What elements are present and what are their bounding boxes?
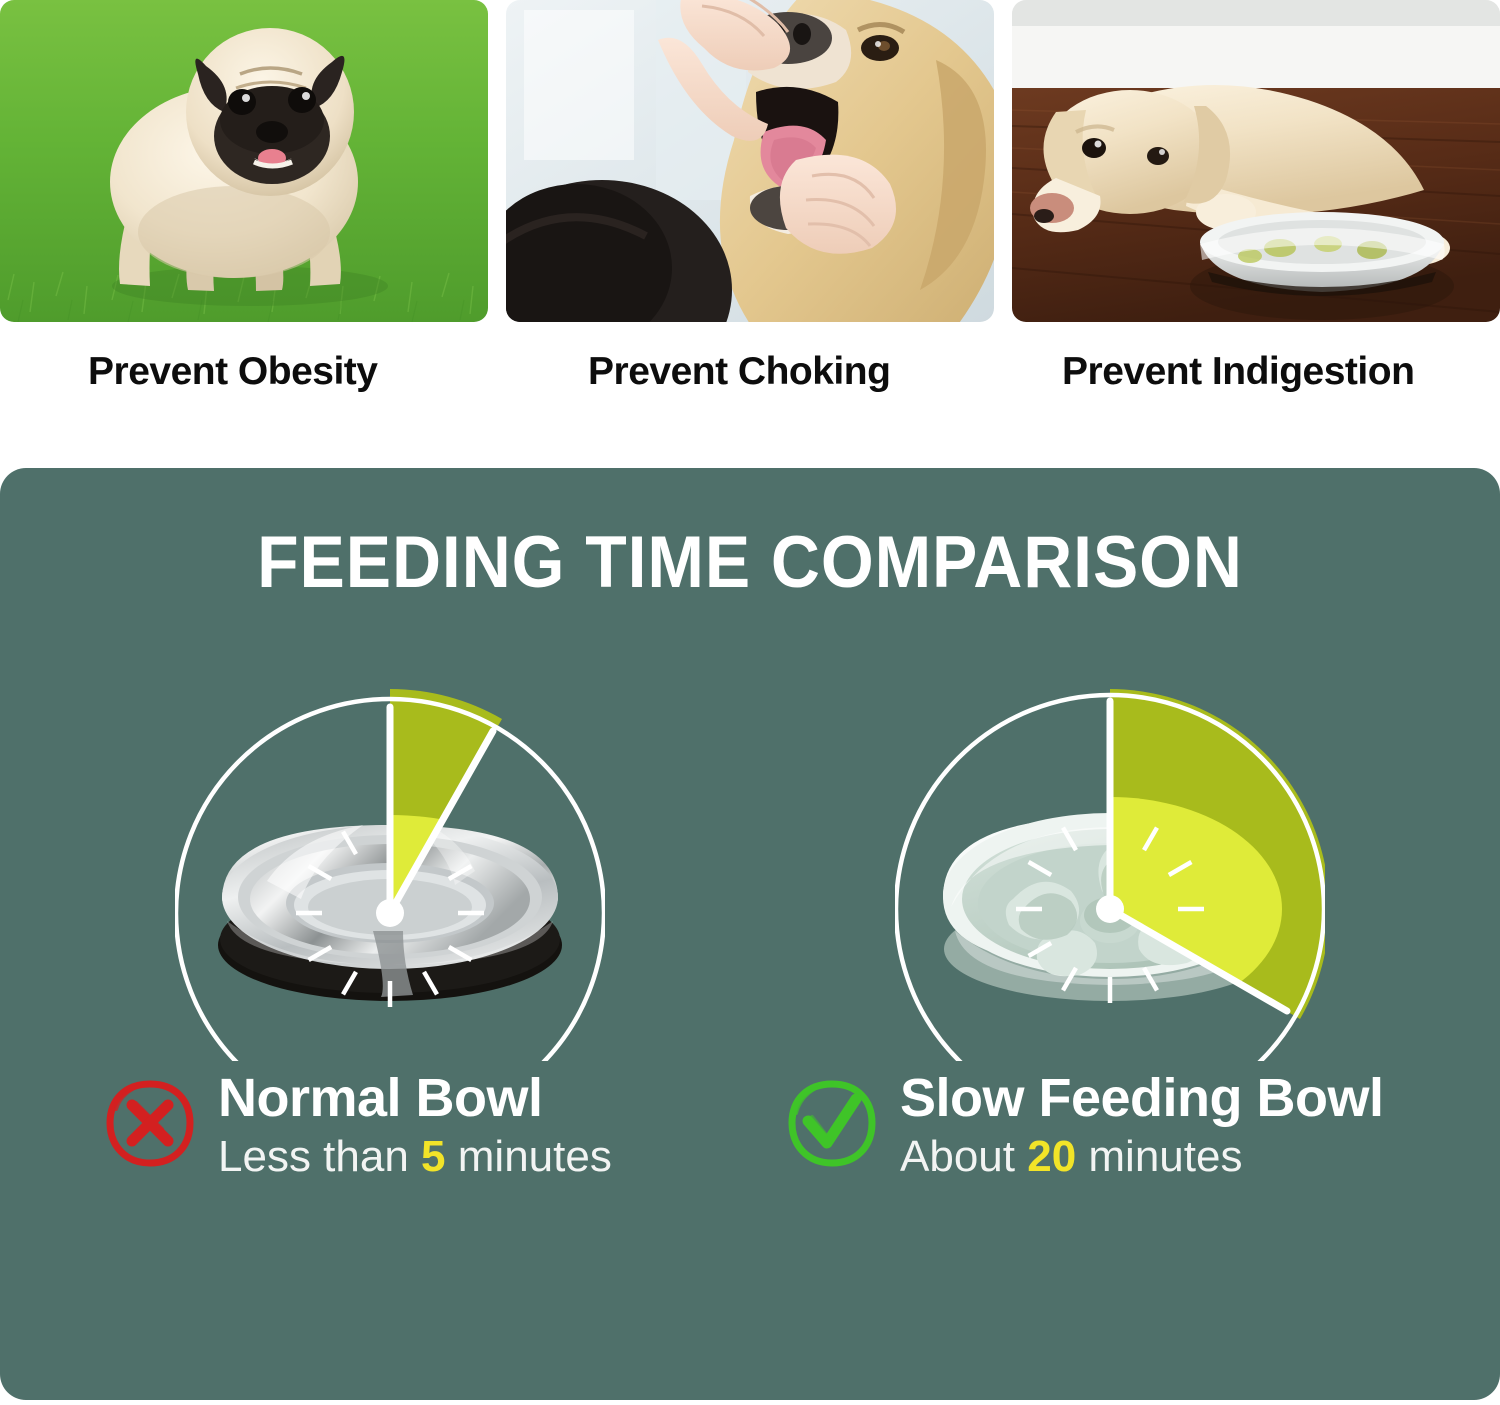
result-value: 5 (421, 1132, 445, 1181)
result-prefix: Less than (218, 1132, 409, 1181)
clock-comparison-row (0, 631, 1500, 1061)
photo-prevent-indigestion (1012, 0, 1500, 322)
cross-circle-icon (104, 1077, 196, 1174)
labrador-and-bowl-image (1012, 0, 1500, 322)
normal-bowl-dial (175, 631, 605, 1061)
result-subtitle: Less than 5 minutes (218, 1135, 612, 1179)
result-value: 20 (1027, 1132, 1076, 1181)
clock-slow-feeding-bowl (895, 631, 1325, 1061)
benefit-card: Prevent Choking (506, 0, 994, 391)
results-row: Normal Bowl Less than 5 minutes Slow Fee… (0, 1071, 1500, 1179)
result-text: Slow Feeding Bowl About 20 minutes (900, 1071, 1384, 1179)
dog-mouth-check-image (506, 0, 994, 322)
benefit-caption: Prevent Obesity (0, 322, 488, 391)
benefit-card: Prevent Indigestion (1012, 0, 1500, 391)
benefit-card: Prevent Obesity (0, 0, 488, 391)
result-normal-bowl: Normal Bowl Less than 5 minutes (104, 1071, 724, 1179)
result-title: Normal Bowl (218, 1071, 612, 1125)
clock-normal-bowl (175, 631, 605, 1061)
benefit-caption: Prevent Choking (506, 322, 994, 391)
result-text: Normal Bowl Less than 5 minutes (218, 1071, 612, 1179)
benefit-caption: Prevent Indigestion (1012, 322, 1500, 391)
photo-prevent-obesity (0, 0, 488, 322)
clock-center-pin (1096, 895, 1124, 923)
benefits-strip: Prevent Obesity (0, 0, 1500, 391)
result-subtitle: About 20 minutes (900, 1135, 1384, 1179)
overweight-pug-image (0, 0, 488, 322)
clock-center-pin (376, 899, 404, 927)
panel-title: FEEDING TIME COMPARISON (53, 468, 1448, 599)
result-slow-feeding-bowl: Slow Feeding Bowl About 20 minutes (786, 1071, 1406, 1179)
result-prefix: About (900, 1132, 1015, 1181)
result-title: Slow Feeding Bowl (900, 1071, 1384, 1125)
result-suffix: minutes (1088, 1132, 1242, 1181)
photo-prevent-choking (506, 0, 994, 322)
result-suffix: minutes (458, 1132, 612, 1181)
check-circle-icon (786, 1077, 878, 1174)
feeding-time-comparison-panel: FEEDING TIME COMPARISON (0, 468, 1500, 1400)
slow-feeder-dial (895, 631, 1325, 1061)
